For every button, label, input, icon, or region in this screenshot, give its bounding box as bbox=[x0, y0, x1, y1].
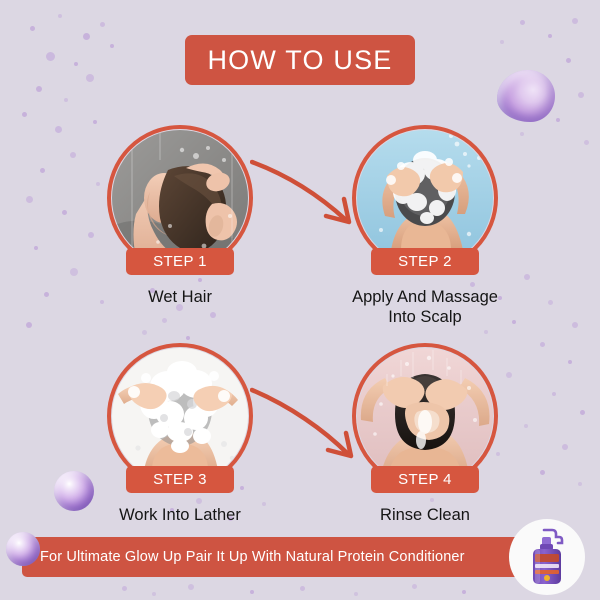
step-4-badge: STEP 4 bbox=[371, 466, 479, 493]
step-2-caption-line-1: Apply And Massage bbox=[320, 287, 530, 307]
step-card-3: STEP 3 Work Into Lather bbox=[75, 343, 285, 489]
step-card-2: STEP 2 Apply And Massage Into Scalp bbox=[320, 125, 530, 271]
natural-protein-conditioner-bottle bbox=[526, 528, 568, 586]
iridescent-blob-decor bbox=[497, 70, 555, 122]
step-2-caption: Apply And Massage Into Scalp bbox=[320, 287, 530, 327]
footer-text: For Ultimate Glow Up Pair It Up With Nat… bbox=[22, 549, 465, 565]
step-2-caption-line-2: Into Scalp bbox=[320, 307, 530, 327]
step-3-badge-label: STEP 3 bbox=[153, 471, 207, 488]
purple-bubble-decor-footer bbox=[6, 532, 40, 566]
page-title-banner: HOW TO USE bbox=[185, 35, 415, 85]
step-4-caption: Rinse Clean bbox=[320, 505, 530, 525]
step-1-badge: STEP 1 bbox=[126, 248, 234, 275]
how-to-use-infographic: HOW TO USE bbox=[0, 0, 600, 600]
step-3-caption: Work Into Lather bbox=[75, 505, 285, 525]
step-4-badge-label: STEP 4 bbox=[398, 471, 452, 488]
step-card-4: STEP 4 Rinse Clean bbox=[320, 343, 530, 489]
footer-banner: For Ultimate Glow Up Pair It Up With Nat… bbox=[22, 537, 528, 577]
step-2-badge-label: STEP 2 bbox=[398, 253, 452, 270]
step-2-badge: STEP 2 bbox=[371, 248, 479, 275]
step-card-1: STEP 1 Wet Hair bbox=[75, 125, 285, 271]
step-3-badge: STEP 3 bbox=[126, 466, 234, 493]
product-badge-circle bbox=[509, 519, 585, 595]
page-title: HOW TO USE bbox=[207, 45, 392, 76]
step-1-badge-label: STEP 1 bbox=[153, 253, 207, 270]
step-1-caption: Wet Hair bbox=[75, 287, 285, 307]
